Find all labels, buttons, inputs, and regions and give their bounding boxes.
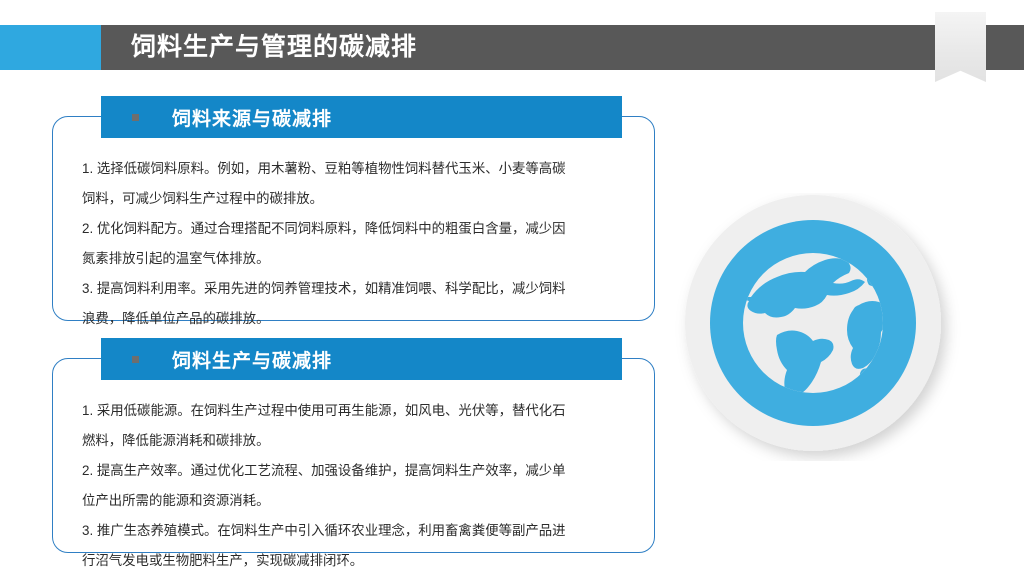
globe-icon <box>673 193 963 461</box>
header-accent-block <box>0 25 101 70</box>
card-title: 饲料生产与碳减排 <box>172 346 332 373</box>
body-line: 行沼气发电或生物肥料生产，实现碳减排闭环。 <box>82 546 642 576</box>
card-title: 饲料来源与碳减排 <box>172 104 332 131</box>
page-title: 饲料生产与管理的碳减排 <box>131 25 417 70</box>
body-line: 浪费，降低单位产品的碳排放。 <box>82 304 642 334</box>
body-line: 燃料，降低能源消耗和碳排放。 <box>82 426 642 456</box>
card-body-feed-production: 1. 采用低碳能源。在饲料生产过程中使用可再生能源，如风电、光伏等，替代化石 燃… <box>82 396 642 576</box>
square-bullet-icon <box>132 356 139 363</box>
card-header-feed-source: 饲料来源与碳减排 <box>101 96 622 138</box>
content-card-feed-production: 饲料生产与碳减排 1. 采用低碳能源。在饲料生产过程中使用可再生能源，如风电、光… <box>52 358 655 553</box>
body-line: 2. 提高生产效率。通过优化工艺流程、加强设备维护，提高饲料生产效率，减少单 <box>82 456 642 486</box>
square-bullet-icon <box>132 114 139 121</box>
body-line: 3. 提高饲料利用率。采用先进的饲养管理技术，如精准饲喂、科学配比，减少饲料 <box>82 274 642 304</box>
body-line: 2. 优化饲料配方。通过合理搭配不同饲料原料，降低饲料中的粗蛋白含量，减少因 <box>82 214 642 244</box>
body-line: 1. 选择低碳饲料原料。例如，用木薯粉、豆粕等植物性饲料替代玉米、小麦等高碳 <box>82 154 642 184</box>
body-line: 1. 采用低碳能源。在饲料生产过程中使用可再生能源，如风电、光伏等，替代化石 <box>82 396 642 426</box>
slide-header: 饲料生产与管理的碳减排 <box>0 25 1024 70</box>
card-body-feed-source: 1. 选择低碳饲料原料。例如，用木薯粉、豆粕等植物性饲料替代玉米、小麦等高碳 饲… <box>82 154 642 334</box>
body-line: 饲料，可减少饲料生产过程中的碳排放。 <box>82 184 642 214</box>
body-line: 位产出所需的能源和资源消耗。 <box>82 486 642 516</box>
content-card-feed-source: 饲料来源与碳减排 1. 选择低碳饲料原料。例如，用木薯粉、豆粕等植物性饲料替代玉… <box>52 116 655 321</box>
body-line: 氮素排放引起的温室气体排放。 <box>82 244 642 274</box>
card-header-feed-production: 饲料生产与碳减排 <box>101 338 622 380</box>
bookmark-ribbon-icon <box>935 12 986 82</box>
body-line: 3. 推广生态养殖模式。在饲料生产中引入循环农业理念，利用畜禽粪便等副产品进 <box>82 516 642 546</box>
